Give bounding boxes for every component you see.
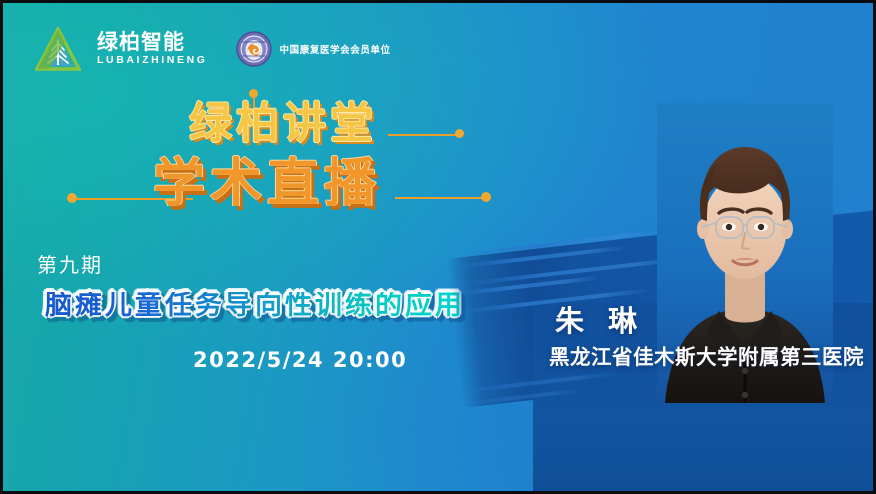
decor-dot-right-upper: [455, 129, 464, 138]
speaker-panel: 朱 琳 黑龙江省佳木斯大学附属第三医院: [473, 3, 876, 494]
association-label: 中国康复医学会会员单位: [280, 42, 391, 56]
triangle-pine-logo-icon: [35, 27, 81, 71]
episode-label: 第九期: [37, 249, 103, 278]
brand-name-en: LUBAIZHINENG: [97, 55, 208, 67]
header-branding: 绿柏智能 LUBAIZHINENG 中国康复医学会会员单位: [35, 27, 391, 71]
decor-dot-top: [249, 89, 258, 98]
brand-name-cn: 绿柏智能: [97, 31, 208, 53]
headline-line-1: 绿柏讲堂: [189, 103, 381, 146]
speaker-organization: 黑龙江省佳木斯大学附属第三医院: [549, 340, 864, 370]
association-badge: 中国康复医学会会员单位: [236, 31, 391, 67]
decor-line-right-upper: [388, 134, 460, 136]
live-broadcast-poster: 绿柏智能 LUBAIZHINENG 中国康复医学会会员单位: [0, 0, 876, 494]
brand-wordmark: 绿柏智能 LUBAIZHINENG: [97, 31, 208, 67]
decor-line-right-lower: [395, 197, 485, 199]
topic-title: 脑瘫儿童任务导向性训练的应用: [45, 292, 465, 319]
poster-headline: 绿柏讲堂 学术直播: [189, 103, 381, 210]
association-seal-icon: [236, 31, 272, 67]
session-datetime: 2022/5/24 20:00: [193, 348, 407, 372]
speaker-name: 朱 琳: [555, 298, 644, 340]
headline-line-2: 学术直播: [153, 158, 381, 210]
decor-dot-left: [67, 193, 77, 203]
